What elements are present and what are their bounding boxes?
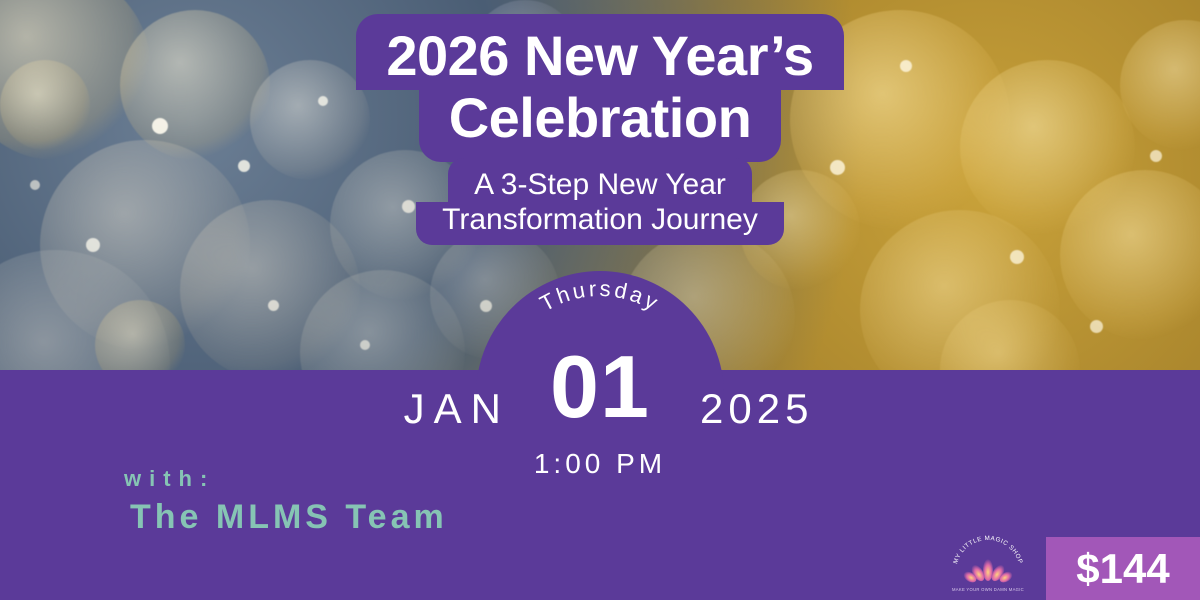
price-badge: $144: [1046, 537, 1200, 600]
bokeh-sparkle: [1010, 250, 1024, 264]
subtitle-line-1: A 3-Step New Year: [448, 158, 752, 203]
weekday-label: Thursday: [536, 276, 665, 316]
subtitle-block: A 3-Step New Year Transformation Journey: [0, 158, 1200, 245]
time-label: 1:00 PM: [450, 448, 750, 480]
lotus-icon: [962, 559, 1015, 585]
brand-tagline: MAKE YOUR OWN DAMN MAGIC: [952, 587, 1024, 592]
bokeh-sparkle: [1090, 320, 1103, 333]
with-label: with:: [124, 466, 215, 492]
year-label: 2025: [700, 385, 900, 433]
title-line-1: 2026 New Year’s: [356, 14, 843, 90]
event-poster: 2026 New Year’s Celebration A 3-Step New…: [0, 0, 1200, 600]
brand-logo: MY LITTLE MAGIC SHOP MAKE YOUR OWN DAMN …: [940, 528, 1036, 600]
day-number: 01: [476, 336, 724, 438]
title-line-2: Celebration: [419, 88, 782, 162]
subtitle-line-2: Transformation Journey: [416, 202, 784, 245]
bokeh-sparkle: [268, 300, 279, 311]
title-block: 2026 New Year’s Celebration: [0, 14, 1200, 162]
bokeh-sparkle: [360, 340, 370, 350]
price-text: $144: [1076, 545, 1169, 593]
presenter-name: The MLMS Team: [130, 498, 448, 537]
